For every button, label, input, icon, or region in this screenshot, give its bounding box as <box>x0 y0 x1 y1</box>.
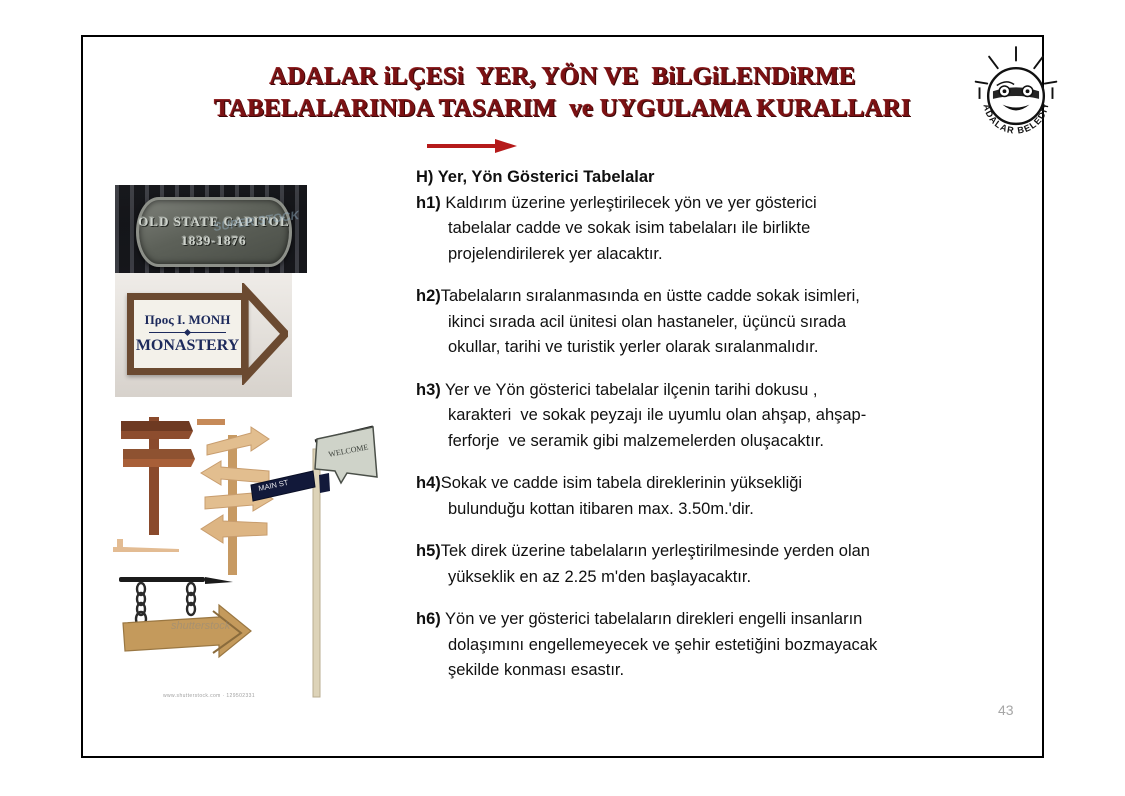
paragraph-h6-text-1: Yön ve yer gösterici tabelaların direkle… <box>441 610 863 628</box>
paragraph-h4-text-1: Sokak ve cadde isim tabela direklerinin … <box>441 474 802 492</box>
paragraph-h2-line-3: okullar, tarihi ve turistik yerler olara… <box>416 335 986 361</box>
paragraph-h5-line-2: yükseklik en az 2.25 m'den başlayacaktır… <box>416 565 986 591</box>
body-text-block: H) Yer, Yön Gösterici Tabelalar h1) Kald… <box>416 165 986 684</box>
spacer-2 <box>416 361 986 378</box>
paragraph-h1-line-3: projelendirilerek yer alacaktır. <box>416 242 986 268</box>
signpost-illustration: WELCOME MAIN ST www.shutterstock.com · 1… <box>101 405 391 705</box>
paragraph-h1-lead: h1) <box>416 194 441 212</box>
page-title-line-1: ADALAR iLÇESi YER, YÖN VE BiLGiLENDiRME <box>83 61 1042 93</box>
spacer-1 <box>416 267 986 284</box>
paragraph-h2: h2)Tabelaların sıralanmasında en üstte c… <box>416 284 986 361</box>
photo-monastery-direction-sign: Προς Ι. ΜΟΝΗ MONASTERY <box>115 273 292 397</box>
paragraph-h1-line-1: h1) Kaldırım üzerine yerleştirilecek yön… <box>416 191 986 217</box>
paragraph-h1-line-2: tabelalar cadde ve sokak isim tabelaları… <box>416 216 986 242</box>
paragraph-h5: h5)Tek direk üzerine tabelaların yerleşt… <box>416 539 986 590</box>
plaque-line-2: 1839-1876 <box>181 233 246 249</box>
spacer-5 <box>416 590 986 607</box>
section-heading: H) Yer, Yön Gösterici Tabelalar <box>416 165 986 191</box>
sign-frame: Προς Ι. ΜΟΝΗ MONASTERY <box>127 293 247 375</box>
adalar-belediyesi-logo-icon: ADALAR BELEDİYESİ <box>968 45 1064 149</box>
paragraph-h3: h3) Yer ve Yön gösterici tabelalar ilçen… <box>416 378 986 455</box>
paragraph-h5-line-1: h5)Tek direk üzerine tabelaların yerleşt… <box>416 539 986 565</box>
paragraph-h3-text-1: Yer ve Yön gösterici tabelalar ilçenin t… <box>441 381 818 399</box>
paragraph-h3-line-1: h3) Yer ve Yön gösterici tabelalar ilçen… <box>416 378 986 404</box>
sign-arrow-icon <box>242 283 288 385</box>
paragraph-h6-lead: h6) <box>416 610 441 628</box>
chained-wooden-arrow-sign <box>119 577 251 657</box>
paragraph-h3-lead: h3) <box>416 381 441 399</box>
paragraph-h5-text-1: Tek direk üzerine tabelaların yerleştiri… <box>441 542 870 560</box>
spacer-3 <box>416 454 986 471</box>
sign-line-english: MONASTERY <box>136 337 239 355</box>
paragraph-h6-line-1: h6) Yön ve yer gösterici tabelaların dir… <box>416 607 986 633</box>
page-number: 43 <box>998 702 1014 718</box>
paragraph-h5-lead: h5) <box>416 542 441 560</box>
page-title-line-2: TABELALARINDA TASARIM ve UYGULAMA KURALL… <box>83 93 1042 125</box>
paragraph-h6: h6) Yön ve yer gösterici tabelaların dir… <box>416 607 986 684</box>
paragraph-h2-line-1: h2)Tabelaların sıralanmasında en üstte c… <box>416 284 986 310</box>
illustration-watermark: shutterstock <box>171 620 231 632</box>
paragraph-h2-line-2: ikinci sırada acil ünitesi olan hastanel… <box>416 310 986 336</box>
paragraph-h3-line-2: karakteri ve sokak peyzajı ile uyumlu ol… <box>416 403 986 429</box>
spacer-4 <box>416 522 986 539</box>
paragraph-h2-lead: h2) <box>416 287 441 305</box>
paragraph-h4-lead: h4) <box>416 474 441 492</box>
illustration-caption: www.shutterstock.com · 129502331 <box>163 693 255 699</box>
paragraph-h6-line-2: dolaşımını engellemeyecek ve şehir estet… <box>416 633 986 659</box>
paragraph-h3-line-3: ferforje ve seramik gibi malzemelerden o… <box>416 429 986 455</box>
sign-divider-ornament <box>149 330 226 335</box>
page-title: ADALAR iLÇESi YER, YÖN VE BiLGiLENDiRME … <box>83 61 1042 125</box>
photo-old-state-capitol-plaque: OLD STATE CAPITOL 1839-1876 SUPER STOCK <box>115 185 307 273</box>
red-arrow-icon <box>427 137 517 155</box>
paragraph-h1: h1) Kaldırım üzerine yerleştirilecek yön… <box>416 191 986 268</box>
sign-line-greek: Προς Ι. ΜΟΝΗ <box>145 312 231 328</box>
paragraph-h4-line-2: bulunduğu kottan itibaren max. 3.50m.'di… <box>416 497 986 523</box>
paragraph-h2-text-1: Tabelaların sıralanmasında en üstte cadd… <box>441 287 860 305</box>
paragraph-h6-line-3: şekilde konması esastır. <box>416 658 986 684</box>
paragraph-h4-line-1: h4)Sokak ve cadde isim tabela direklerin… <box>416 471 986 497</box>
paragraph-h1-text-1: Kaldırım üzerine yerleştirilecek yön ve … <box>441 194 817 212</box>
wooden-arrow-signpost <box>201 427 273 575</box>
street-sign-pole: WELCOME MAIN ST <box>251 427 377 697</box>
paragraph-h4: h4)Sokak ve cadde isim tabela direklerin… <box>416 471 986 522</box>
slide-canvas: ADALAR iLÇESi YER, YÖN VE BiLGiLENDiRME … <box>81 35 1044 758</box>
